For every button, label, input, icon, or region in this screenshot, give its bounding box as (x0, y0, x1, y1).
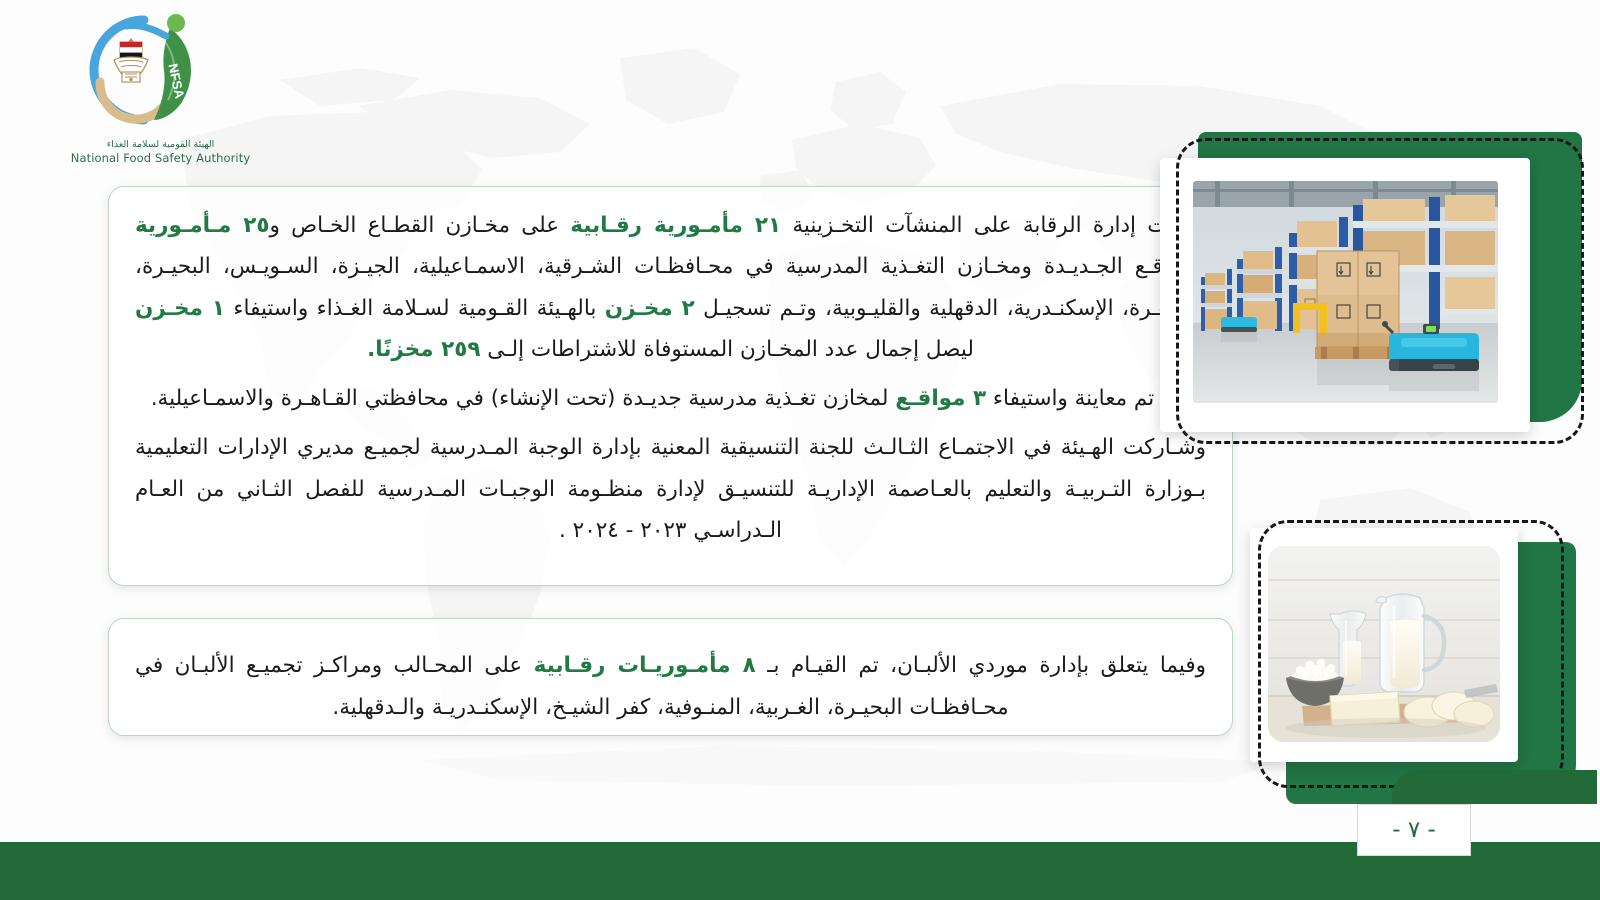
organization-logo: NFSA الهيئة القومية لسلامة الغذاء (58, 8, 268, 173)
text-run: ليصل إجمال عدد المخـازن المستوفاة للاشتر… (480, 337, 973, 362)
logo-english-name: National Food Safety Authority (58, 151, 263, 165)
nfsa-logo-icon: NFSA (66, 8, 216, 133)
highlight-run: ٢٥ مـأمـورية (135, 213, 270, 238)
highlight-run: ٢ مخـزن (605, 296, 695, 321)
dairy-products-photo (1268, 546, 1500, 742)
image-frame-warehouse (1160, 132, 1600, 452)
highlight-run: ٣ مواقـع (895, 386, 986, 411)
logo-arabic-name: الهيئة القومية لسلامة الغذاء (58, 139, 263, 150)
warehouse-storage-photo (1193, 181, 1498, 403)
highlight-run: ٢٥٩ مخزنًا. (367, 337, 480, 362)
highlight-run: ١ مخـزن (135, 296, 225, 321)
text-run: ونفذت إدارة الرقابة على المنشآت التخـزين… (781, 213, 1206, 238)
footer-green-accent (1392, 770, 1597, 804)
content-box-dairy: وفيما يتعلق بإدارة موردي الألبـان، تم ال… (108, 618, 1233, 736)
text-run: وشـاركت الهـيئة في الاجتمـاع الثـالـث لل… (135, 435, 1206, 543)
text-run: وفيما يتعلق بإدارة موردي الألبـان، تم ال… (756, 653, 1206, 678)
paragraph-list-top: ونفذت إدارة الرقابة على المنشآت التخـزين… (135, 205, 1206, 551)
text-run: بالهـيئة القـومية لسـلامة الغـذاء واستيف… (225, 296, 605, 321)
highlight-run: ٢١ مأمـورية رقـابية (570, 213, 781, 238)
image-frame-dairy (1250, 528, 1600, 808)
text-run: لمخازن تغـذية مدرسية جديـدة (تحت الإنشاء… (151, 386, 895, 411)
page-number-badge: - ٧ - (1357, 804, 1471, 856)
text-run: على مخـازن القطـاع الخـاص و (270, 213, 571, 238)
p-coordination-meeting: وشـاركت الهـيئة في الاجتمـاع الثـالـث لل… (135, 427, 1206, 551)
p-dairy-suppliers: وفيما يتعلق بإدارة موردي الألبـان، تم ال… (135, 645, 1206, 729)
paragraph-list-bottom: وفيما يتعلق بإدارة موردي الألبـان، تم ال… (135, 645, 1206, 729)
p-new-school-stores: كما تم معاينة واستيفاء ٣ مواقـع لمخازن ت… (135, 378, 1206, 419)
p-storage-inspections: ونفذت إدارة الرقابة على المنشآت التخـزين… (135, 205, 1206, 370)
slide-root: NFSA الهيئة القومية لسلامة الغذاء (0, 0, 1600, 900)
content-box-storage: ونفذت إدارة الرقابة على المنشآت التخـزين… (108, 186, 1233, 586)
highlight-run: ٨ مأمـوريـات رقـابية (534, 653, 756, 678)
